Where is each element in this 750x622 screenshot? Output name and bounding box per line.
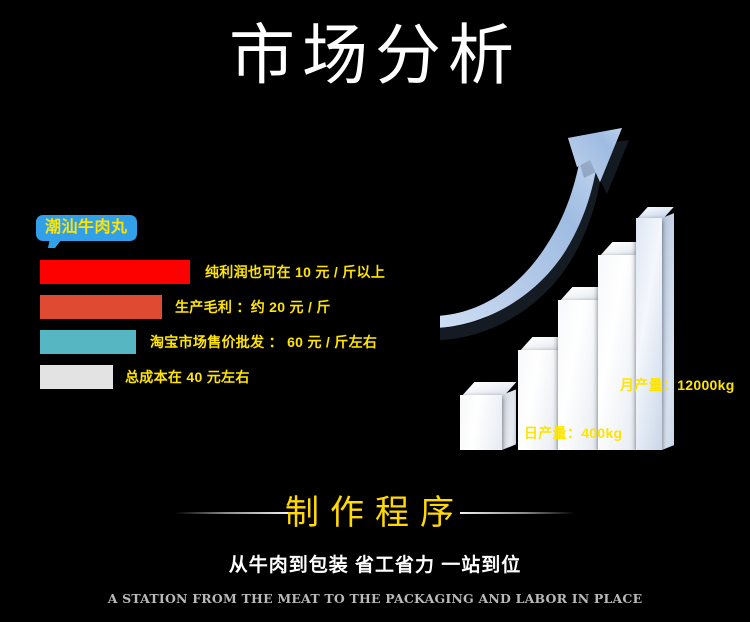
bar-label-gross-margin: 生产毛利 ：约 20 元 / 斤 [175, 296, 331, 318]
column-1-side [502, 389, 516, 450]
page-title: 市场分析 [0, 16, 750, 96]
tagline-english: A STATION FROM THE MEAT TO THE PACKAGING… [0, 589, 750, 609]
column-1-front [460, 395, 502, 450]
bar-row-net-profit: 纯利润也可在 10 元 / 斤以上 [40, 260, 460, 295]
column-5 [636, 218, 662, 450]
bar-label-total-cost: 总成本在 40 元左右 [125, 366, 250, 388]
column-5-side [662, 213, 674, 450]
column-5-front [636, 218, 662, 450]
section-title: 制作程序 [0, 489, 750, 537]
bar-row-gross-margin: 生产毛利 ：约 20 元 / 斤 [40, 295, 460, 330]
bar-label-net-profit: 纯利润也可在 10 元 / 斤以上 [205, 261, 385, 283]
bar-row-total-cost: 总成本在 40 元左右 [40, 365, 460, 400]
divider-line-right [460, 512, 575, 514]
bar-wholesale-price [40, 330, 136, 354]
market-analysis-poster: 市场分析 潮汕牛肉丸 纯利润也可在 10 元 / 斤以上 生产毛利 ：约 20 … [0, 0, 750, 622]
tagline-chinese: 从牛肉到包装 省工省力 一站到位 [0, 553, 750, 579]
bar-total-cost [40, 365, 113, 389]
badge-tail-icon [48, 239, 62, 248]
bar-label-wholesale-price: 淘宝市场售价批发 ： 60 元 / 斤左右 [150, 331, 377, 353]
column-4 [598, 255, 636, 450]
column-4-front [598, 255, 636, 450]
bar-row-wholesale-price: 淘宝市场售价批发 ： 60 元 / 斤左右 [40, 330, 460, 365]
product-badge-label: 潮汕牛肉丸 [36, 215, 137, 241]
section-divider: 制作程序 [0, 489, 750, 537]
daily-output-label: 日产量：400kg [524, 423, 622, 443]
production-growth-chart: 月产量：12000kg 日产量：400kg [440, 110, 750, 450]
column-1 [460, 395, 502, 450]
bar-net-profit [40, 260, 190, 284]
monthly-output-label: 月产量：12000kg [620, 375, 735, 395]
price-breakdown-bar-chart: 纯利润也可在 10 元 / 斤以上 生产毛利 ：约 20 元 / 斤 淘宝市场售… [40, 260, 460, 400]
product-badge: 潮汕牛肉丸 [36, 215, 137, 241]
bar-gross-margin [40, 295, 162, 319]
